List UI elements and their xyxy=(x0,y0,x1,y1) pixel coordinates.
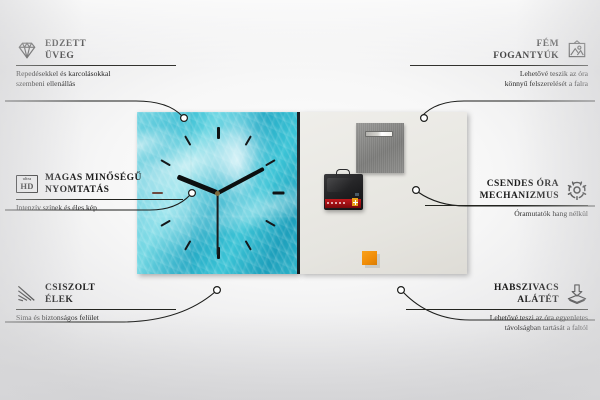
callout-polished-edges: CSISZOLT ÉLEK Sima és biztonságos felüle… xyxy=(16,282,176,323)
callout-title: CSENDES ÓRA MECHANIZMUS xyxy=(480,178,559,202)
callout-title: MAGAS MINŐSÉGŰ NYOMTATÁS xyxy=(45,172,142,196)
callout-tempered-glass: EDZETT ÜVEG Repedésekkel és karcolásokka… xyxy=(16,38,176,88)
callout-rule xyxy=(406,309,588,310)
diamond-icon xyxy=(16,40,38,60)
connector-dot-polished-edges xyxy=(214,287,221,294)
callout-high-quality-print: ultra HD MAGAS MINŐSÉGŰ NYOMTATÁS Intenz… xyxy=(16,172,183,213)
metal-hanger-plate xyxy=(356,123,404,173)
infographic-stage: EDZETT ÜVEG Repedésekkel és karcolásokka… xyxy=(0,0,600,400)
callout-title: FÉM FOGANTYÚK xyxy=(493,38,559,62)
clock-mechanism xyxy=(324,174,363,210)
mechanism-sheen xyxy=(327,178,357,192)
callout-description: Intenzív színek és éles kép xyxy=(16,203,183,213)
clock-side-edge xyxy=(297,112,300,274)
clock-tick xyxy=(184,135,191,146)
clock-tick xyxy=(265,220,276,227)
picture-hanger-icon xyxy=(566,40,588,60)
callout-rule xyxy=(16,65,176,66)
clock-tick xyxy=(184,240,191,251)
callout-rule xyxy=(410,65,588,66)
clock-tick xyxy=(160,220,171,227)
clock-tick xyxy=(244,135,251,146)
callout-description: Óramutatók hang nélkül xyxy=(425,209,588,219)
mechanism-hook xyxy=(336,169,350,176)
mechanism-label xyxy=(355,193,359,196)
callout-rule xyxy=(16,309,176,310)
ultra-hd-icon: ultra HD xyxy=(16,175,38,193)
polished-edge-icon xyxy=(16,284,38,304)
callout-title: HABSZIVACS ALÁTÉT xyxy=(494,282,559,306)
callout-rule xyxy=(425,205,588,206)
battery-plus-marker xyxy=(352,198,358,206)
callout-description: Repedésekkel és karcolásokkal szembeni e… xyxy=(16,69,176,88)
foam-pad-sample xyxy=(362,251,377,265)
callout-description: Sima és biztonságos felület xyxy=(16,313,176,323)
callout-description: Lehetővé teszi az óra egyenletes távolsá… xyxy=(406,313,588,332)
gear-icon xyxy=(566,180,588,200)
ultra-hd-icon-bottom: HD xyxy=(20,182,33,191)
clock-tick xyxy=(217,127,220,139)
clock-tick xyxy=(244,240,251,251)
foam-pad-icon xyxy=(566,284,588,304)
callout-title: CSISZOLT ÉLEK xyxy=(45,282,95,306)
callout-rule xyxy=(16,199,183,200)
callout-title: EDZETT ÜVEG xyxy=(45,38,86,62)
hanger-slot xyxy=(365,131,393,137)
callout-metal-handles: FÉM FOGANTYÚK Lehetővé teszik az óra kön… xyxy=(410,38,588,88)
connector-dot-foam-pad xyxy=(398,287,405,294)
clock-tick xyxy=(265,159,276,166)
product-image xyxy=(137,112,467,274)
callout-description: Lehetővé teszik az óra könnyű felszerelé… xyxy=(410,69,588,88)
callout-silent-mechanism: CSENDES ÓRA MECHANIZMUS Óramu xyxy=(425,178,588,219)
battery-strip xyxy=(325,199,361,208)
clock-center-cap xyxy=(215,191,220,196)
clock-second-hand xyxy=(217,193,219,255)
clock-tick xyxy=(160,159,171,166)
clock-tick xyxy=(272,192,284,195)
callout-foam-pad: HABSZIVACS ALÁTÉT Lehetővé teszi az óra … xyxy=(406,282,588,332)
